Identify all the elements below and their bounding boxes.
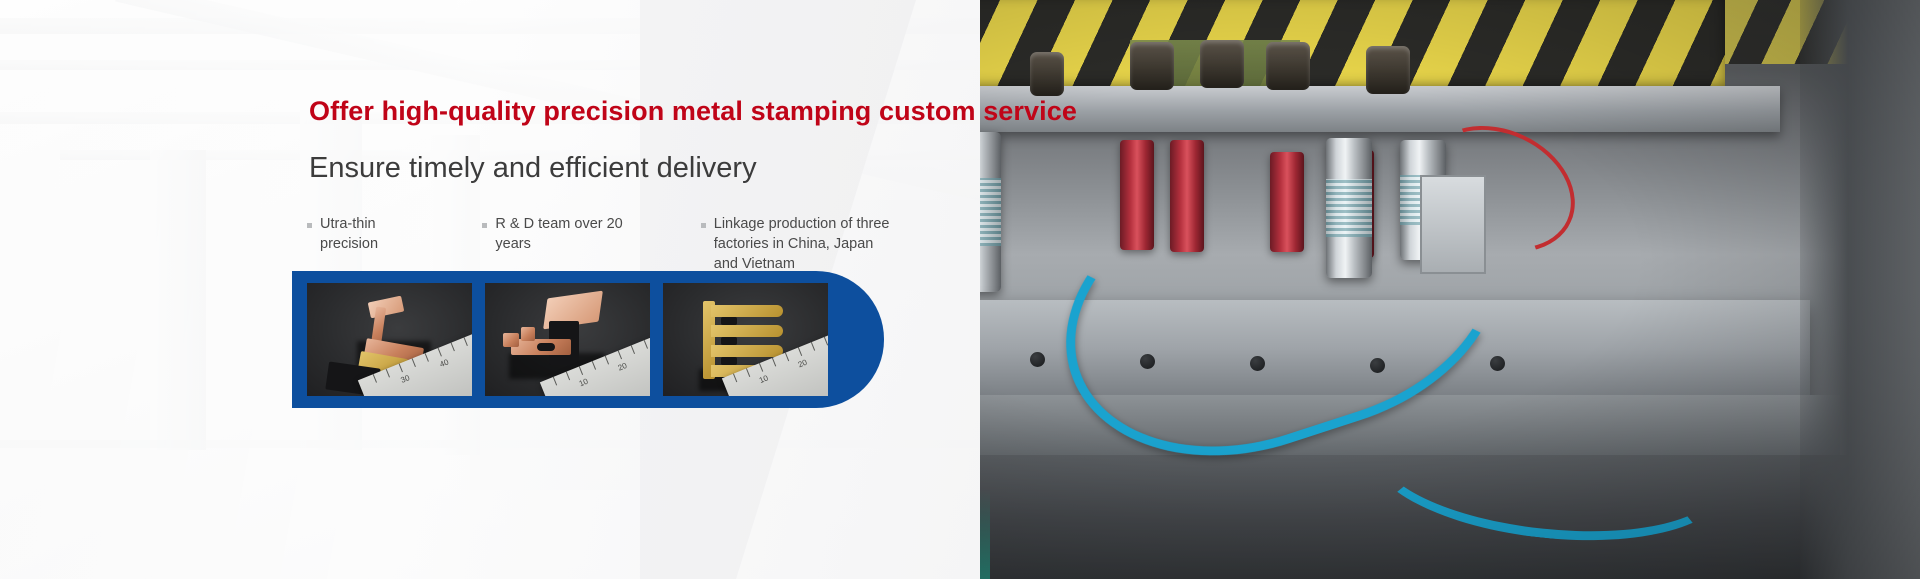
hero-banner: Offer high-quality precision metal stamp… — [0, 0, 1920, 579]
gallery-thumbnail[interactable]: 1020 — [663, 283, 828, 396]
gallery-thumbnail[interactable]: 1020 — [485, 283, 650, 396]
list-item: Linkage production of three factories in… — [701, 214, 900, 274]
bullet-square-icon — [307, 223, 312, 228]
list-item-label: Linkage production of three factories in… — [714, 214, 900, 274]
bullet-square-icon — [482, 223, 487, 228]
list-item: R & D team over 20 years — [482, 214, 646, 254]
gallery-thumbnail[interactable]: 3040 — [307, 283, 472, 396]
thumbnail-strip: 3040 10 — [307, 283, 828, 396]
list-item: Utra-thin precision — [307, 214, 426, 254]
feature-list: Utra-thin precision R & D team over 20 y… — [307, 214, 900, 274]
bullet-square-icon — [701, 223, 706, 228]
list-item-label: Utra-thin precision — [320, 214, 426, 254]
page-title: Offer high-quality precision metal stamp… — [309, 96, 1077, 127]
page-subtitle: Ensure timely and efficient delivery — [309, 152, 757, 185]
list-item-label: R & D team over 20 years — [495, 214, 646, 254]
gallery-panel: 3040 10 — [292, 271, 884, 408]
